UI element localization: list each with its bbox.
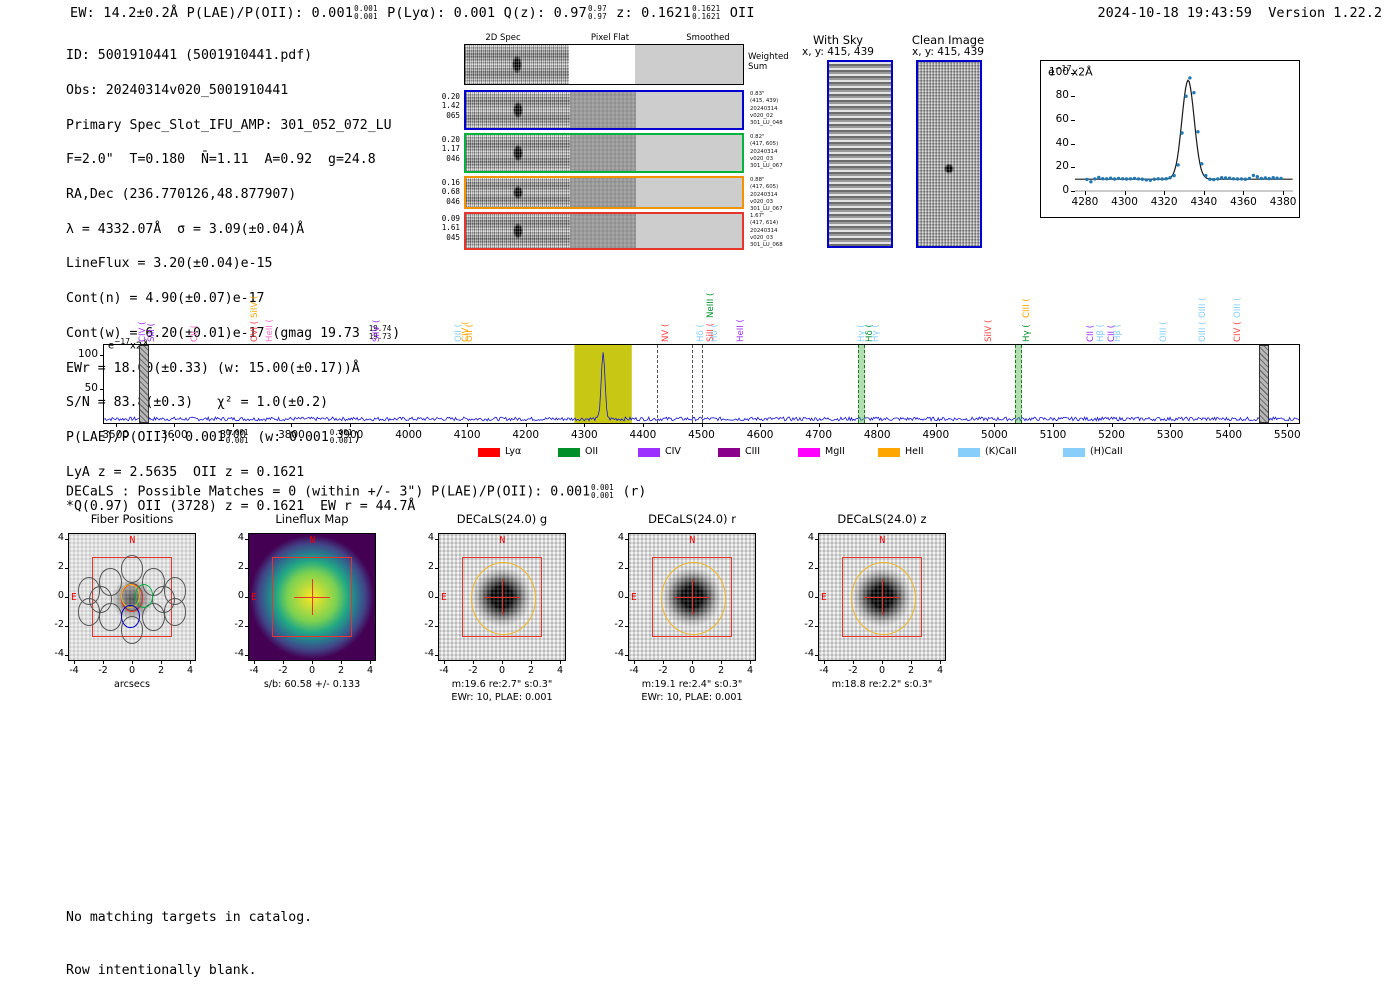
spec2d-image-pixelflat xyxy=(569,45,635,84)
cutout-ytick-label: 2 xyxy=(604,561,624,572)
legend-label: HeII xyxy=(905,446,924,457)
spectrum-xtick-label: 4500 xyxy=(677,429,727,441)
cutout-ytick xyxy=(65,655,68,656)
zoom-xtick xyxy=(1283,191,1284,195)
zoom-ytick-label: 40 xyxy=(1043,137,1069,149)
header-summary-z: z: 0.1621 xyxy=(616,5,691,21)
emission-line-label: Hβ ( xyxy=(1096,324,1106,342)
cutout-xtick-label: 2 xyxy=(899,665,923,676)
spectrum-xtick-label: 4100 xyxy=(442,429,492,441)
spec2d-fiber-right-value: 301_LU_067 xyxy=(750,163,810,170)
cutout-frame[interactable]: N E xyxy=(438,533,566,661)
cutout-ytick-label: 2 xyxy=(794,561,814,572)
legend-label: (H)CaII xyxy=(1090,446,1123,457)
spectrum-xtick xyxy=(1287,423,1288,427)
compass-east: E xyxy=(251,592,257,603)
with-sky-image xyxy=(827,60,893,248)
spec2d-fiber-right-value: 1.67" xyxy=(750,213,810,220)
spec2d-fiber-2dspec xyxy=(466,92,570,128)
spec2d-fiber-left-labels: 0.201.17046 xyxy=(426,135,460,163)
spectrum-xtick-label: 5300 xyxy=(1145,429,1195,441)
cutout-ytick xyxy=(435,539,438,540)
spectrum-xtick-label: 5400 xyxy=(1204,429,1254,441)
spec2d-fiber-right-value: (417, 605) xyxy=(750,141,810,148)
cutout-xtick-label: 2 xyxy=(329,665,353,676)
cutout-ytick-label: 0 xyxy=(604,590,624,601)
emission-line-label: OII ( xyxy=(465,324,475,342)
clean-image-coords: x, y: 415, 439 xyxy=(893,46,1003,58)
spectrum-xtick xyxy=(350,423,351,427)
zoom-ytick-label: 60 xyxy=(1043,113,1069,125)
decals-header-tail: (r) xyxy=(623,485,647,500)
header-datetime: 2024-10-18 19:43:59 xyxy=(1098,5,1252,21)
spec2d-fiber-right-labels: 0.88"(417, 605)20240314v020_03301_LU_067 xyxy=(750,177,810,213)
spec2d-fiber-2dspec xyxy=(466,135,570,171)
compass-north: N xyxy=(689,535,695,546)
spec2d-fiber-right-value: v020_03 xyxy=(750,156,810,163)
cutout-xtick xyxy=(750,661,751,664)
zoom-ytick xyxy=(1071,96,1075,97)
spectrum-xtick xyxy=(116,423,117,427)
spectrum-xtick-label: 5100 xyxy=(1028,429,1078,441)
info-wavelength-sigma: λ = 4332.07Å σ = 3.09(±0.04)Å xyxy=(66,221,415,238)
spectrum-xtick xyxy=(291,423,292,427)
emission-line-label: OIII ( xyxy=(1233,298,1243,318)
cutout-ytick-label: -2 xyxy=(604,619,624,630)
cutout-ytick-label: -2 xyxy=(224,619,244,630)
spec2d-fiber-right-labels: 0.83"(415, 439)20240314v020_02301_LU_048 xyxy=(750,91,810,127)
cutout-frame[interactable]: N E xyxy=(68,533,196,661)
header-summary-text: EW: 14.2±0.2Å P(LAE)/P(OII): 0.001 xyxy=(70,5,353,21)
spectrum-xtick xyxy=(1112,423,1113,427)
emission-line-label: CIV ( xyxy=(1233,322,1243,343)
spectrum-xtick xyxy=(233,423,234,427)
emission-line-marker xyxy=(702,345,703,423)
cutout-xtick-label: 4 xyxy=(738,665,762,676)
legend-label: OII xyxy=(585,446,598,457)
compass-east: E xyxy=(71,592,77,603)
spec2d-fiber-smoothed xyxy=(636,135,742,171)
legend-label: CIII xyxy=(745,446,760,457)
cutout-title: DECaLS(24.0) z xyxy=(808,512,956,526)
cutout-ytick xyxy=(815,568,818,569)
emission-line-label: HeII ( xyxy=(265,319,275,342)
compass-east: E xyxy=(821,592,827,603)
legend-swatch xyxy=(718,448,740,457)
cutout-caption: EWr: 10, PLAE: 0.001 xyxy=(414,692,590,704)
cutout-xtick xyxy=(692,661,693,664)
legend-swatch xyxy=(1063,448,1085,457)
spec2d-fiber-right-value: 20240314 xyxy=(750,192,810,199)
spec2d-fiber-left-labels: 0.160.68046 xyxy=(426,178,460,206)
cutout-xtick-label: -4 xyxy=(812,665,836,676)
spec2d-fiber-row xyxy=(464,212,744,250)
cutout-xtick-label: 0 xyxy=(490,665,514,676)
cutout-xtick xyxy=(911,661,912,664)
emission-line-label: NV ( xyxy=(661,324,671,342)
cutout-xtick xyxy=(370,661,371,664)
spectrum-xtick xyxy=(936,423,937,427)
cutout-ytick xyxy=(815,655,818,656)
header-summary-tail: OII xyxy=(730,5,755,21)
header-summary-mid: P(Lyα): 0.001 Q(z): 0.97 xyxy=(387,5,587,21)
cutout-xtick xyxy=(473,661,474,664)
cutout-ytick-label: 0 xyxy=(224,590,244,601)
spec2d-weighted-sum-label: WeightedSum xyxy=(748,52,789,72)
zoom-xtick xyxy=(1204,191,1205,195)
cutout-xtick xyxy=(634,661,635,664)
footer-line-1: No matching targets in catalog. xyxy=(66,909,312,927)
header-z-fraction: 0.16210.1621 xyxy=(692,5,720,20)
zoom-xtick xyxy=(1164,191,1165,195)
compass-north: N xyxy=(879,535,885,546)
cutout-xtick-label: 2 xyxy=(149,665,173,676)
spectrum-xtick xyxy=(584,423,585,427)
cutout-ytick-label: 4 xyxy=(414,532,434,543)
emission-line-label: NeIII ( xyxy=(706,293,716,318)
cutout-ytick xyxy=(435,655,438,656)
info-obs: Obs: 20240314v020_5001910441 xyxy=(66,82,415,99)
cutout-xtick-label: -2 xyxy=(651,665,675,676)
cutout-crosshair-v xyxy=(882,579,883,614)
legend-label: Lyα xyxy=(505,446,521,457)
zoom-xtick-label: 4360 xyxy=(1223,196,1263,208)
cutout-ytick xyxy=(245,655,248,656)
cutout-xtick xyxy=(531,661,532,664)
cutout-title: DECaLS(24.0) r xyxy=(618,512,766,526)
spectrum-xtick xyxy=(760,423,761,427)
cutout-ytick xyxy=(625,626,628,627)
lineflux-crosshair-v xyxy=(312,579,313,614)
cutout-ytick xyxy=(625,655,628,656)
cutout-xtick xyxy=(663,661,664,664)
header-qz-fraction: 0.970.97 xyxy=(588,5,607,20)
footer-note: No matching targets in catalog. Row inte… xyxy=(66,874,312,997)
cutout-xtick-label: 0 xyxy=(300,665,324,676)
spec2d-fiber-left-labels: 0.091.61045 xyxy=(426,214,460,242)
info-radec: RA,Dec (236.770126,48.877907) xyxy=(66,186,415,203)
decals-plae-fraction: 0.0010.001 xyxy=(591,484,614,499)
spectrum-xtick-label: 4400 xyxy=(618,429,668,441)
spec2d-fiber-right-value: 20240314 xyxy=(750,228,810,235)
cutout-xtick-label: 0 xyxy=(870,665,894,676)
spec2d-fiber-right-value: 0.88" xyxy=(750,177,810,184)
cutout-caption: arcsecs xyxy=(44,679,220,691)
compass-north: N xyxy=(499,535,505,546)
cutout-ytick xyxy=(65,626,68,627)
cutout-xtick-label: 2 xyxy=(519,665,543,676)
zoom-xtick-label: 4280 xyxy=(1065,196,1105,208)
spectrum-xtick-label: 4600 xyxy=(735,429,785,441)
legend-swatch xyxy=(798,448,820,457)
spec2d-fiber-right-value: v020_02 xyxy=(750,113,810,120)
spec2d-fiber-left-labels: 0.201.42065 xyxy=(426,92,460,120)
legend-label: (K)CaII xyxy=(985,446,1017,457)
compass-north: N xyxy=(309,535,315,546)
fiber-circle-selected-blue xyxy=(121,605,140,629)
compass-east: E xyxy=(441,592,447,603)
spectrum-xtick-label: 4000 xyxy=(384,429,434,441)
cutout-ytick-label: -4 xyxy=(224,648,244,659)
emission-line-label: HeII ( xyxy=(736,319,746,342)
cutout-ytick xyxy=(435,597,438,598)
emission-line-label: OVI ( xyxy=(250,321,260,342)
header-summary-line: EW: 14.2±0.2Å P(LAE)/P(OII): 0.0010.0010… xyxy=(70,5,755,21)
spectrum-xtick xyxy=(702,423,703,427)
cutout-xtick xyxy=(940,661,941,664)
emission-line-marker xyxy=(692,345,693,423)
cutout-ytick-label: -2 xyxy=(44,619,64,630)
cutout-xtick-label: 4 xyxy=(928,665,952,676)
spec2d-fiber-right-value: 20240314 xyxy=(750,106,810,113)
cutout-ytick-label: -4 xyxy=(44,648,64,659)
cutout-xtick-label: 0 xyxy=(120,665,144,676)
legend-label: MgII xyxy=(825,446,845,457)
compass-north: N xyxy=(129,535,135,546)
zoom-xtick xyxy=(1085,191,1086,195)
cutout-ytick xyxy=(245,539,248,540)
cutout-ytick xyxy=(435,568,438,569)
cutout-xtick-label: 2 xyxy=(709,665,733,676)
legend-swatch xyxy=(878,448,900,457)
spectrum-xtick-label: 4800 xyxy=(852,429,902,441)
spec2d-fiber-row xyxy=(464,176,744,209)
spectrum-xtick xyxy=(1053,423,1054,427)
fiber-circle xyxy=(164,598,187,626)
clean-image xyxy=(916,60,982,248)
spectrum-ytick-label: 100 xyxy=(70,348,98,360)
emission-line-label: Hβ ( xyxy=(1113,324,1123,342)
cutout-xtick-label: -2 xyxy=(271,665,295,676)
cutout-ytick-label: 4 xyxy=(794,532,814,543)
emission-line-zoom-plot xyxy=(1040,60,1300,218)
emission-line-label: SiIV ( xyxy=(250,296,260,318)
emission-line-label: CII ( xyxy=(190,325,200,342)
zoom-ytick xyxy=(1071,120,1075,121)
info-cont-n: Cont(n) = 4.90(±0.07)e-17 xyxy=(66,290,415,307)
legend-swatch xyxy=(958,448,980,457)
spec2d-fiber-pixelflat xyxy=(570,214,636,248)
cutout-xtick-label: 4 xyxy=(548,665,572,676)
cutout-ytick-label: -2 xyxy=(794,619,814,630)
cutout-ytick-label: -4 xyxy=(414,648,434,659)
spec2d-col-header-2dspec: 2D Spec xyxy=(463,33,543,43)
cutout-frame[interactable]: N E xyxy=(248,533,376,661)
cutout-xtick-label: 4 xyxy=(358,665,382,676)
spectrum-xtick xyxy=(819,423,820,427)
spec2d-col-header-smoothed: Smoothed xyxy=(668,33,748,43)
cutout-ytick xyxy=(815,597,818,598)
spec2d-fiber-pixelflat xyxy=(570,92,636,128)
cutout-ytick xyxy=(65,597,68,598)
cutout-xtick-label: -2 xyxy=(91,665,115,676)
cutout-ytick xyxy=(625,539,628,540)
spectrum-xtick-label: 3900 xyxy=(325,429,375,441)
spec2d-fiber-smoothed xyxy=(636,92,742,128)
cutout-ytick-label: 2 xyxy=(414,561,434,572)
cutout-ytick-label: 0 xyxy=(44,590,64,601)
spectrum-xtick-label: 3500 xyxy=(91,429,141,441)
cutout-ytick-label: -4 xyxy=(794,648,814,659)
spec2d-fiber-left-value: 0.09 xyxy=(426,214,460,223)
spec2d-fiber-left-value: 1.17 xyxy=(426,144,460,153)
spectrum-xtick-label: 3700 xyxy=(208,429,258,441)
emission-line-label: CII ( xyxy=(1086,325,1096,342)
spec2d-col-header-pixelflat: Pixel Flat xyxy=(570,33,650,43)
legend-swatch xyxy=(478,448,500,457)
spectrum-xtick-label: 4900 xyxy=(911,429,961,441)
cutout-frame[interactable]: N E xyxy=(628,533,756,661)
cutout-xtick-label: -4 xyxy=(62,665,86,676)
cutout-xtick xyxy=(283,661,284,664)
zoom-xtick-label: 4320 xyxy=(1144,196,1184,208)
emission-line-label: CIII ( xyxy=(1022,298,1032,318)
emission-line-label: SiIV ( xyxy=(984,320,994,342)
zoom-ytick xyxy=(1071,191,1075,192)
spec2d-fiber-left-value: 046 xyxy=(426,154,460,163)
decals-header-text: DECaLS : Possible Matches = 0 (within +/… xyxy=(66,485,590,500)
legend-swatch xyxy=(558,448,580,457)
cutout-xtick xyxy=(444,661,445,664)
compass-east: E xyxy=(631,592,637,603)
emission-line-label: Hγ ( xyxy=(871,324,881,342)
spec2d-fiber-right-value: (417, 614) xyxy=(750,220,810,227)
emission-line-label: OIII ( xyxy=(1159,322,1169,342)
cutout-xtick xyxy=(190,661,191,664)
spectrum-xtick xyxy=(994,423,995,427)
spec2d-fiber-left-value: 1.42 xyxy=(426,101,460,110)
cutout-title: Fiber Positions xyxy=(58,512,206,526)
spectrum-ytick-label: 50 xyxy=(70,382,98,394)
cutout-crosshair-v xyxy=(692,579,693,614)
cutout-title: DECaLS(24.0) g xyxy=(428,512,576,526)
zoom-ytick xyxy=(1071,73,1075,74)
spec2d-fiber-pixelflat xyxy=(570,135,636,171)
emission-line-label: SiIV ( xyxy=(372,320,382,342)
zoom-ytick-label: 100 xyxy=(1043,66,1069,78)
cutout-crosshair-v xyxy=(502,579,503,614)
spectrum-xtick xyxy=(526,423,527,427)
spectrum-xtick-label: 5200 xyxy=(1087,429,1137,441)
spec2d-fiber-left-value: 0.16 xyxy=(426,178,460,187)
spec2d-fiber-pixelflat xyxy=(570,178,636,207)
spec2d-fiber-right-value: (417, 605) xyxy=(750,184,810,191)
spectrum-xtick xyxy=(643,423,644,427)
cutout-xtick-label: 4 xyxy=(178,665,202,676)
zoom-ytick-label: 0 xyxy=(1043,184,1069,196)
cutout-xtick xyxy=(132,661,133,664)
cutout-xtick xyxy=(721,661,722,664)
cutout-ytick xyxy=(625,568,628,569)
spec2d-fiber-2dspec xyxy=(466,214,570,248)
cutout-xtick xyxy=(103,661,104,664)
header-plae-fraction: 0.0010.001 xyxy=(354,5,378,20)
cutout-xtick xyxy=(882,661,883,664)
cutout-ytick xyxy=(245,597,248,598)
spectrum-xtick xyxy=(1170,423,1171,427)
spec2d-fiber-right-labels: 1.67"(417, 614)20240314v020_03301_LU_068 xyxy=(750,213,810,249)
spectrum-xtick xyxy=(467,423,468,427)
emission-line-label: OIII ( xyxy=(1198,298,1208,318)
cutout-xtick-label: 0 xyxy=(680,665,704,676)
with-sky-title: With Sky xyxy=(788,33,888,47)
spec2d-fiber-right-value: (415, 439) xyxy=(750,98,810,105)
cutout-xtick-label: -2 xyxy=(841,665,865,676)
spectrum-xtick xyxy=(174,423,175,427)
fiber-circle xyxy=(99,603,122,631)
info-redshifts: LyA z = 2.5635 OII z = 0.1621 xyxy=(66,464,415,481)
cutout-xtick xyxy=(74,661,75,664)
zoom-ytick-label: 20 xyxy=(1043,160,1069,172)
info-id: ID: 5001910441 (5001910441.pdf) xyxy=(66,47,415,64)
spec2d-fiber-left-value: 0.20 xyxy=(426,92,460,101)
cutout-xtick xyxy=(502,661,503,664)
spec2d-fiber-right-value: v020_03 xyxy=(750,235,810,242)
cutout-caption: s/b: 60.58 +/- 0.133 xyxy=(224,679,400,691)
spec2d-fiber-left-value: 0.68 xyxy=(426,187,460,196)
spec2d-fiber-right-value: 0.83" xyxy=(750,91,810,98)
cutout-frame[interactable]: N E xyxy=(818,533,946,661)
spec2d-fiber-right-value: v020_03 xyxy=(750,199,810,206)
zoom-xtick-label: 4340 xyxy=(1184,196,1224,208)
spectrum-xtick-label: 4200 xyxy=(501,429,551,441)
spectrum-ytick xyxy=(100,355,104,356)
cutout-ytick xyxy=(815,539,818,540)
spectrum-xtick-label: 5000 xyxy=(969,429,1019,441)
cutout-xtick-label: -4 xyxy=(242,665,266,676)
cutout-ytick xyxy=(245,568,248,569)
cutout-caption: EWr: 10, PLAE: 0.001 xyxy=(604,692,780,704)
cutout-xtick-label: -2 xyxy=(461,665,485,676)
spec2d-fiber-right-labels: 0.82"(417, 605)20240314v020_03301_LU_067 xyxy=(750,134,810,170)
cutout-ytick xyxy=(815,626,818,627)
cutout-xtick-label: -4 xyxy=(432,665,456,676)
zoom-ytick xyxy=(1071,144,1075,145)
spectrum-xtick-label: 3600 xyxy=(149,429,199,441)
legend-label: CIV xyxy=(665,446,681,457)
spectrum-xtick xyxy=(877,423,878,427)
spec2d-fiber-row xyxy=(464,90,744,130)
spec2d-fiber-right-value: 0.82" xyxy=(750,134,810,141)
spec2d-fiber-right-value: 301_LU_048 xyxy=(750,120,810,127)
emission-line-band xyxy=(858,345,865,423)
emission-line-label: Hδ ( xyxy=(710,324,720,342)
spec2d-fiber-2dspec xyxy=(466,178,570,207)
cutout-ytick xyxy=(435,626,438,627)
spec2d-fiber-right-value: 301_LU_068 xyxy=(750,242,810,249)
spectrum-xtick-label: 5500 xyxy=(1262,429,1312,441)
clean-image-title: Clean Image xyxy=(893,33,1003,47)
zoom-ytick-label: 80 xyxy=(1043,89,1069,101)
spec2d-image-smoothed xyxy=(635,45,743,84)
cutout-ytick-label: 0 xyxy=(414,590,434,601)
cutout-caption: m:19.6 re:2.7" s:0.3" xyxy=(414,679,590,691)
cutout-ytick-label: -4 xyxy=(604,648,624,659)
zoom-ytick xyxy=(1071,167,1075,168)
emission-line-label: Hδ ( xyxy=(696,324,706,342)
cutout-xtick xyxy=(254,661,255,664)
zoom-plot-svg xyxy=(1041,61,1299,217)
spectrum-masked-region xyxy=(139,345,148,423)
cutout-title: Lineflux Map xyxy=(238,512,386,526)
spectrum-xtick-label: 4700 xyxy=(794,429,844,441)
footer-line-2: Row intentionally blank. xyxy=(66,962,312,980)
zoom-xtick-label: 4300 xyxy=(1105,196,1145,208)
zoom-xtick xyxy=(1125,191,1126,195)
cutout-ytick-label: 4 xyxy=(44,532,64,543)
cutout-xtick xyxy=(161,661,162,664)
spectrum-xtick xyxy=(409,423,410,427)
